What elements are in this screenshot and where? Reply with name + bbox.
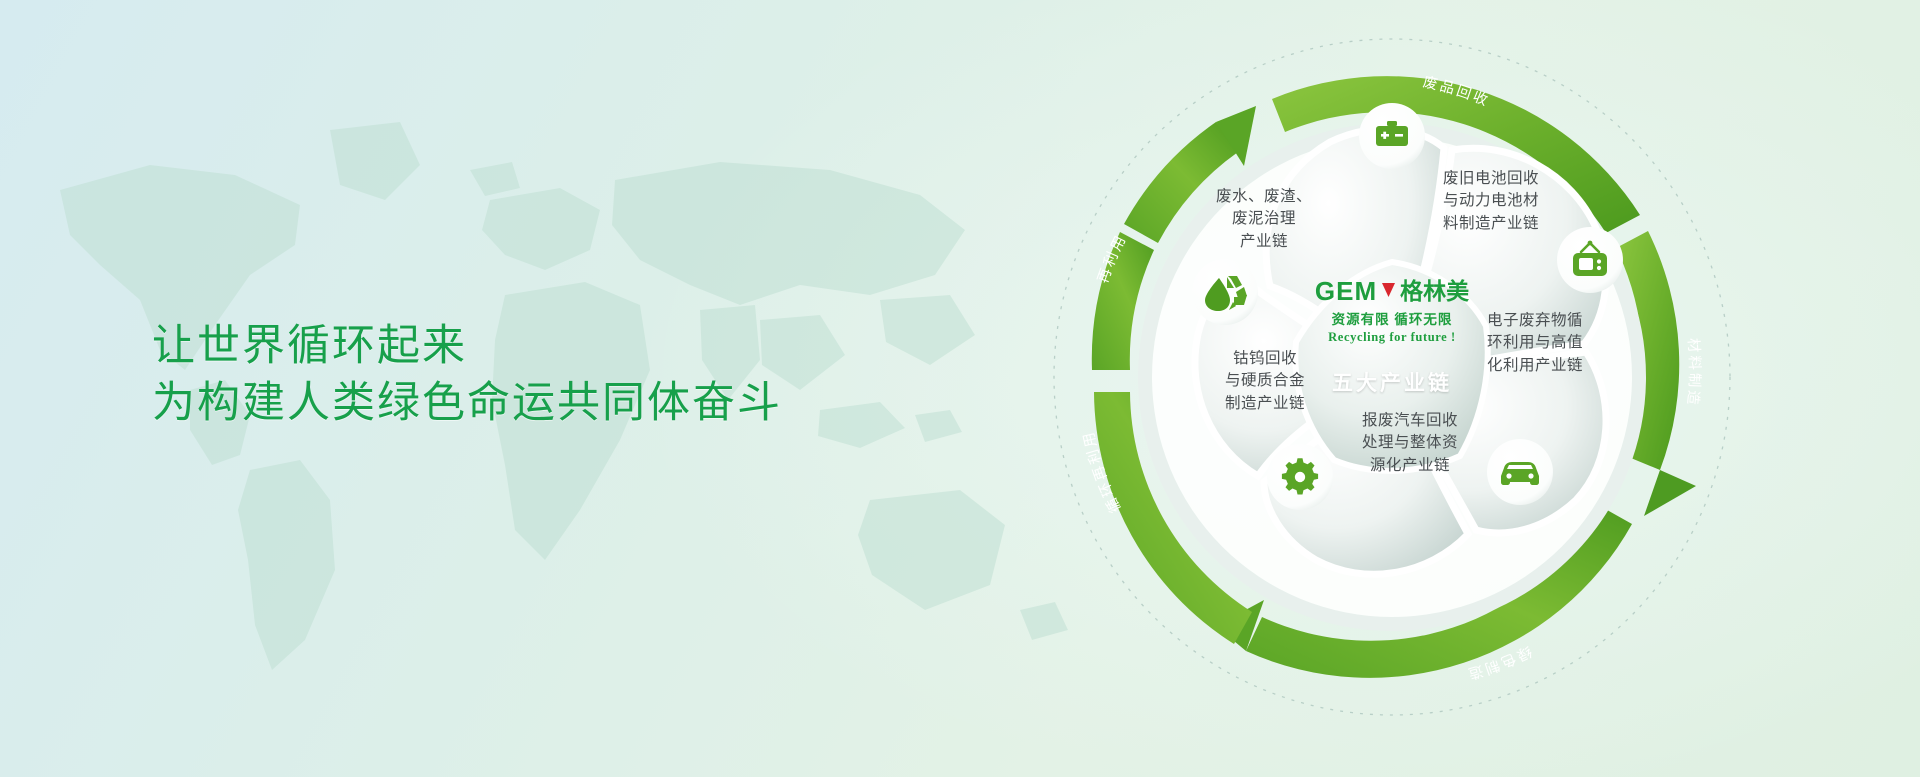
- logo-triangle-mark: [1381, 281, 1396, 301]
- headline-line-2: 为构建人类绿色命运共同体奋斗: [152, 375, 782, 432]
- gear-icon: [1282, 458, 1318, 494]
- page-title: 让世界循环起来 为构建人类绿色命运共同体奋斗: [152, 318, 782, 432]
- logo-brand-latin: GEM: [1315, 278, 1377, 304]
- logo-wordmark: GEM 格林美: [1292, 278, 1492, 304]
- car-icon: [1501, 462, 1539, 485]
- gem-logo: GEM 格林美 资源有限 循环无限 Recycling for future !…: [1292, 278, 1492, 397]
- logo-slogan-en: Recycling for future !: [1292, 330, 1492, 345]
- ring-label-material: 材料制造: [1684, 337, 1703, 408]
- segment-label-battery: 废旧电池回收 与动力电池材 料制造产业链: [1426, 168, 1556, 235]
- circular-economy-diagram: 再利用 废品回收 材料制造 绿色制造 循环再利用 废水、废渣、 废泥治理 产业链…: [1020, 0, 1780, 777]
- center-caption: 五大产业链: [1292, 367, 1492, 397]
- segment-label-wastewater: 废水、废渣、 废泥治理 产业链: [1196, 186, 1332, 253]
- headline-line-1: 让世界循环起来: [152, 318, 782, 375]
- banner-stage: 让世界循环起来 为构建人类绿色命运共同体奋斗: [0, 0, 1920, 777]
- segment-label-vehicle: 报废汽车回收 处理与整体资 源化产业链: [1344, 410, 1476, 477]
- logo-slogan-cn: 资源有限 循环无限: [1292, 308, 1492, 328]
- logo-brand-cn: 格林美: [1400, 280, 1469, 303]
